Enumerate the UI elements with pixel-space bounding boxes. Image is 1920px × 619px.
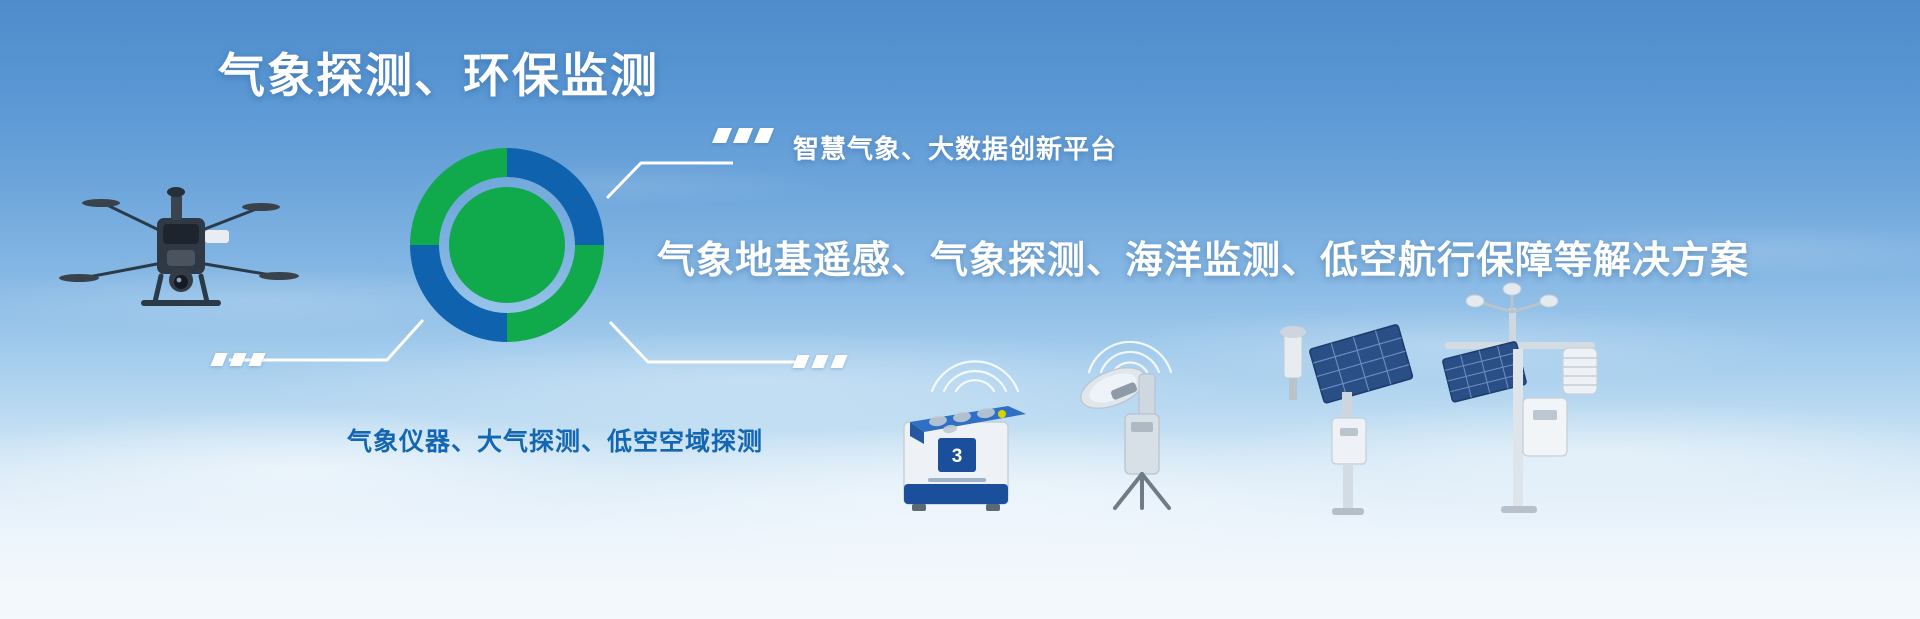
signal-waves-cabinet [920, 315, 1030, 395]
callout-top-text: 智慧气象、大数据创新平台 [793, 129, 1117, 166]
svg-text:3: 3 [952, 446, 963, 467]
callout-main-text: 气象地基遥感、气象探测、海洋监测、低空航行保障等解决方案 [657, 229, 1749, 284]
banner-headline: 气象探测、环保监测 [218, 50, 659, 102]
satellite-dish-tripod [1065, 358, 1195, 513]
callout-bottom-text: 气象仪器、大气探测、低空空域探测 [347, 422, 763, 458]
connector-line-bottom-left [215, 318, 425, 380]
dash-marks-bottom-right [795, 355, 845, 368]
dash-marks-bottom-left [213, 353, 263, 366]
weather-monitoring-banner: 气象探测、环保监测 [0, 0, 1920, 619]
connector-line-bottom-right [608, 320, 808, 382]
dash-marks-top [715, 128, 771, 143]
laser-radar-cabinet: 3 [890, 392, 1030, 512]
circular-ring-diagram [392, 130, 622, 360]
weather-station-mast [1405, 278, 1635, 513]
quadcopter-drone-illustration [45, 160, 305, 340]
